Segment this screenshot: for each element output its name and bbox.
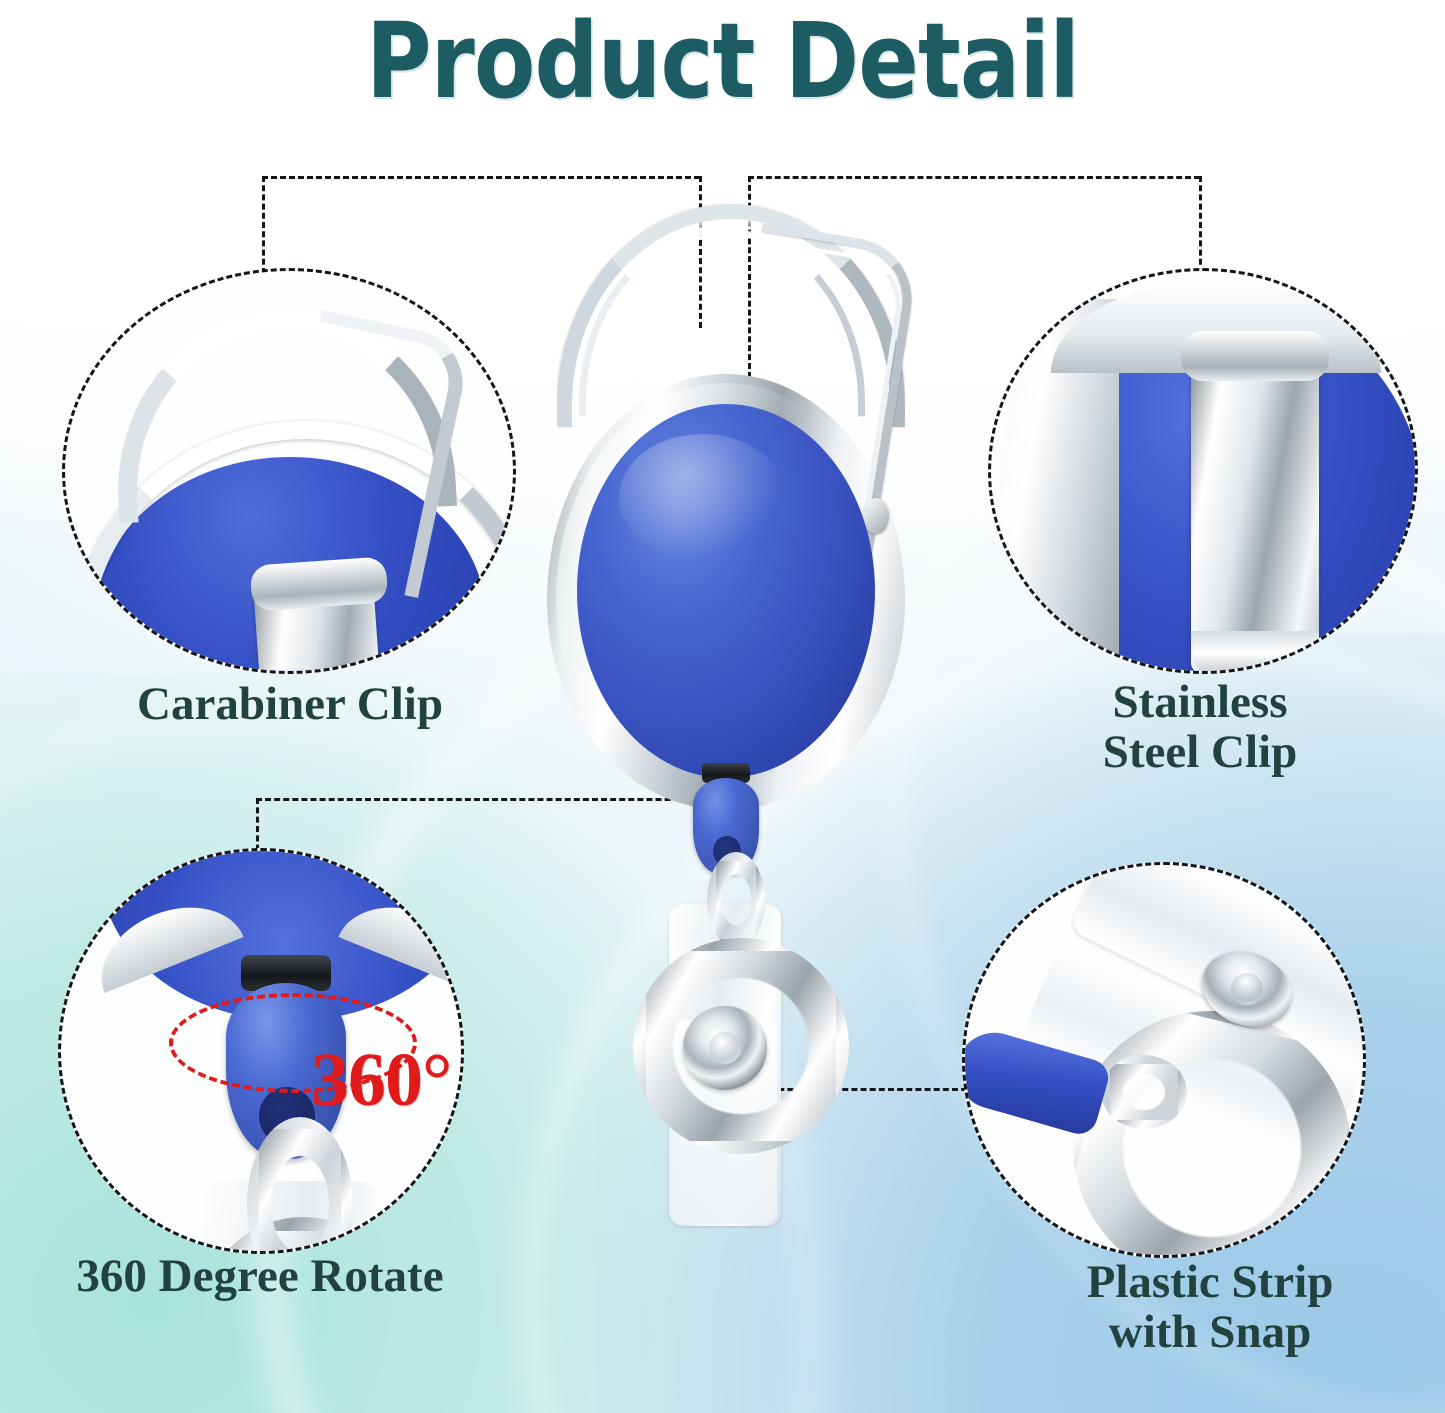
product-detail-infographic: Product Detail [0, 0, 1445, 1413]
callout-circle-plastic-strip-with-snap [962, 862, 1366, 1258]
callout-label-stainless-steel-clip: Stainless Steel Clip [1000, 678, 1400, 778]
callout-label-carabiner-clip: Carabiner Clip [40, 680, 540, 730]
callout-label-line: Steel Clip [1000, 728, 1400, 778]
callout-label-line: Carabiner Clip [40, 680, 540, 730]
callout-label-line: Stainless [1000, 678, 1400, 728]
callout-label-line: with Snap [1010, 1308, 1410, 1358]
callout-circle-360-degree-rotate: 360° [58, 848, 464, 1254]
snap-zoom-eyelet [1101, 1055, 1187, 1129]
callout-label-360-degree-rotate: 360 Degree Rotate [10, 1252, 510, 1302]
steelclip-zoom-clip-foot [1191, 631, 1319, 671]
metal-snap-button [683, 1006, 767, 1090]
leader-line-steelclip-vertical-right [1199, 176, 1202, 274]
leader-line-carabiner-horizontal [262, 176, 700, 179]
steelclip-zoom-clip-body [1191, 343, 1319, 671]
carabiner-zoom-clip-lip [250, 556, 389, 611]
callout-label-line: 360 Degree Rotate [10, 1252, 510, 1302]
leader-line-steelclip-horizontal [748, 176, 1200, 179]
steelclip-zoom-clip-lip [1181, 331, 1329, 381]
callout-label-line: Plastic Strip [1010, 1258, 1410, 1308]
callout-circle-carabiner-clip [62, 268, 516, 674]
callout-label-plastic-strip-with-snap: Plastic Strip with Snap [1010, 1258, 1410, 1358]
carabiner-gate-tip [863, 498, 889, 534]
reel-blue-face [577, 404, 875, 778]
callout-circle-stainless-steel-clip [988, 268, 1418, 674]
oval-connector-ring [707, 852, 765, 948]
leader-line-carabiner-vertical-left [262, 176, 265, 274]
page-title: Product Detail [101, 2, 1344, 120]
rotation-degree-annotation: 360° [311, 1037, 451, 1124]
product-badge-reel [541, 198, 911, 818]
